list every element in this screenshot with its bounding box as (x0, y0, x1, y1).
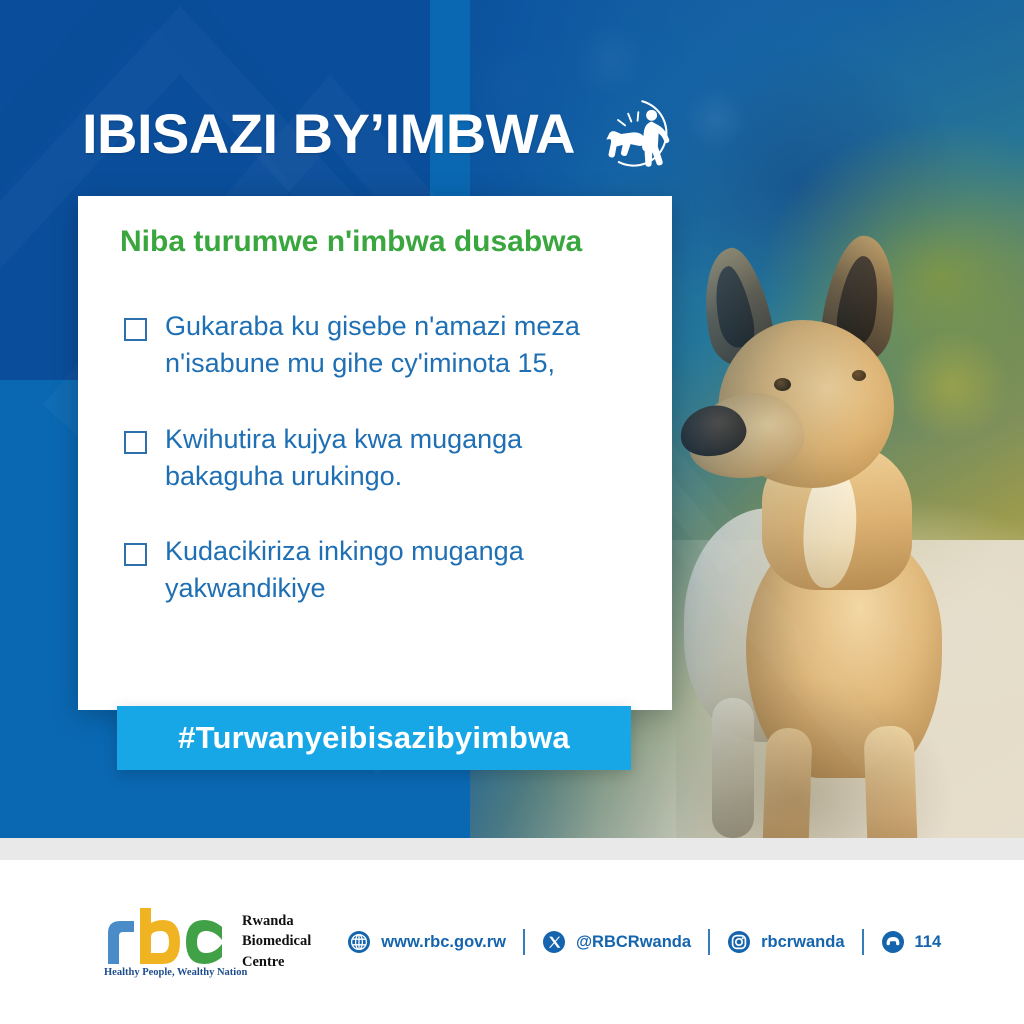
advice-card: Niba turumwe n'imbwa dusabwa Gukaraba ku… (78, 196, 672, 710)
checkbox-icon[interactable] (124, 431, 147, 454)
page-title: IBISAZI BY’IMBWA (82, 106, 575, 162)
hero-section: IBISAZI BY’IMBWA Niba turumwe n'imbwa du… (0, 0, 1024, 840)
logo-tagline: Healthy People, Wealthy Nation (104, 967, 228, 978)
x-twitter-icon (542, 930, 566, 954)
contact-instagram[interactable]: rbcrwanda (727, 930, 844, 954)
instagram-icon (727, 930, 751, 954)
phone-icon (881, 930, 905, 954)
contact-phone[interactable]: 114 (881, 930, 942, 954)
list-item: Kwihutira kujya kwa muganga bakaguha uru… (124, 421, 644, 496)
hashtag-ribbon[interactable]: #Turwanyeibisazibyimbwa (117, 706, 631, 770)
logo-org-name-line: Biomedical (242, 931, 311, 952)
checkbox-icon[interactable] (124, 543, 147, 566)
list-item-text: Kudacikiriza inkingo muganga yakwandikiy… (165, 533, 644, 608)
footer-divider-strip (0, 838, 1024, 860)
contact-divider (708, 929, 710, 955)
rbc-logo: Healthy People, Wealthy Nation Rwanda Bi… (104, 907, 311, 978)
contact-phone-label: 114 (915, 933, 942, 952)
advice-list: Gukaraba ku gisebe n'amazi meza n'isabun… (124, 308, 644, 646)
title-row: IBISAZI BY’IMBWA (82, 95, 675, 173)
dog-bite-icon (597, 95, 675, 173)
list-item: Kudacikiriza inkingo muganga yakwandikiy… (124, 533, 644, 608)
contact-divider (523, 929, 525, 955)
hashtag-text: #Turwanyeibisazibyimbwa (178, 720, 570, 756)
contact-website[interactable]: www.rbc.gov.rw (347, 930, 506, 954)
contact-instagram-label: rbcrwanda (761, 933, 844, 952)
contact-x-twitter-label: @RBCRwanda (576, 933, 691, 952)
card-heading: Niba turumwe n'imbwa dusabwa (120, 222, 590, 262)
list-item-text: Gukaraba ku gisebe n'amazi meza n'isabun… (165, 308, 644, 383)
checkbox-icon[interactable] (124, 318, 147, 341)
contact-website-label: www.rbc.gov.rw (381, 933, 506, 952)
footer: Healthy People, Wealthy Nation Rwanda Bi… (0, 860, 1024, 1024)
globe-icon (347, 930, 371, 954)
logo-org-name-line: Rwanda (242, 911, 311, 932)
list-item-text: Kwihutira kujya kwa muganga bakaguha uru… (165, 421, 644, 496)
poster: IBISAZI BY’IMBWA Niba turumwe n'imbwa du… (0, 0, 1024, 1024)
logo-org-name-line: Centre (242, 952, 311, 973)
logo-org-name: Rwanda Biomedical Centre (242, 907, 311, 973)
footer-contacts: www.rbc.gov.rw @RBCRwanda (347, 929, 941, 955)
list-item: Gukaraba ku gisebe n'amazi meza n'isabun… (124, 308, 644, 383)
contact-divider (862, 929, 864, 955)
rbc-logomark-icon (104, 907, 228, 965)
contact-x-twitter[interactable]: @RBCRwanda (542, 930, 691, 954)
